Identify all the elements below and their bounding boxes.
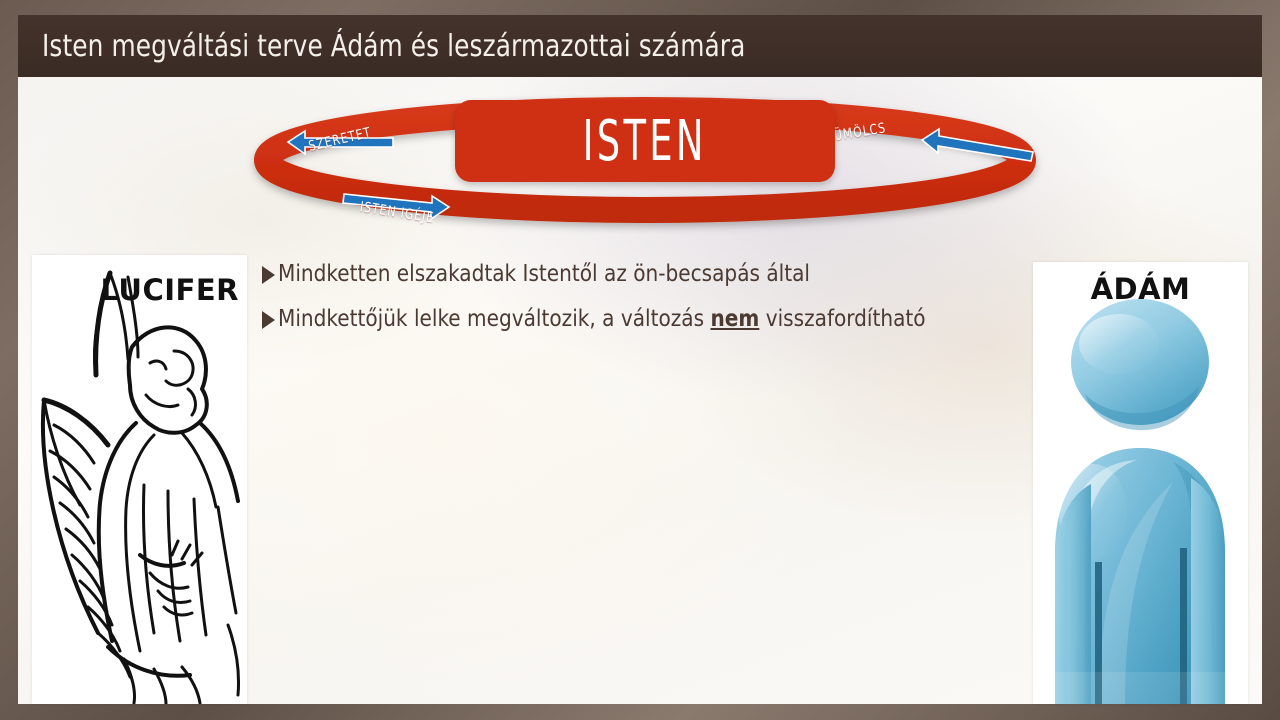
bullet-item-2: Mindkettőjük lelke megváltozik, a változ… xyxy=(262,303,1002,333)
cycle-diagram: SZERETET ISTEN IGÉJE GYÜMÖLCS ISTEN xyxy=(245,95,1045,235)
bullet-list: Mindketten elszakadtak Istentől az ön-be… xyxy=(262,258,1002,348)
lucifer-caption: LUCIFER xyxy=(100,273,239,307)
bullet-text-2-pre: Mindkettőjük lelke megváltozik, a változ… xyxy=(278,304,710,332)
adam-caption: ÁDÁM xyxy=(1033,272,1248,306)
bullet-text-2-post: visszafordítható xyxy=(759,304,925,332)
angel-line-art-icon xyxy=(32,255,247,704)
bullet-item-1: Mindketten elszakadtak Istentől az ön-be… xyxy=(262,258,1002,288)
bullet-text-2-emphasis: nem xyxy=(710,304,759,332)
bullet-text-2: Mindkettőjük lelke megváltozik, a változ… xyxy=(278,303,926,333)
adam-panel: ÁDÁM xyxy=(1033,262,1248,704)
triangle-bullet-icon xyxy=(262,311,275,329)
lucifer-panel: LUCIFER xyxy=(32,255,247,704)
triangle-bullet-icon xyxy=(262,266,275,284)
blue-person-figure-icon xyxy=(1033,262,1248,704)
bullet-text-1: Mindketten elszakadtak Istentől az ön-be… xyxy=(278,258,810,288)
isten-center-box: ISTEN xyxy=(455,100,835,182)
isten-label: ISTEN xyxy=(583,109,707,174)
page-title: Isten megváltási terve Ádám és leszármaz… xyxy=(42,29,745,64)
title-bar: Isten megváltási terve Ádám és leszármaz… xyxy=(18,15,1262,77)
slide-root: Isten megváltási terve Ádám és leszármaz… xyxy=(0,0,1280,720)
